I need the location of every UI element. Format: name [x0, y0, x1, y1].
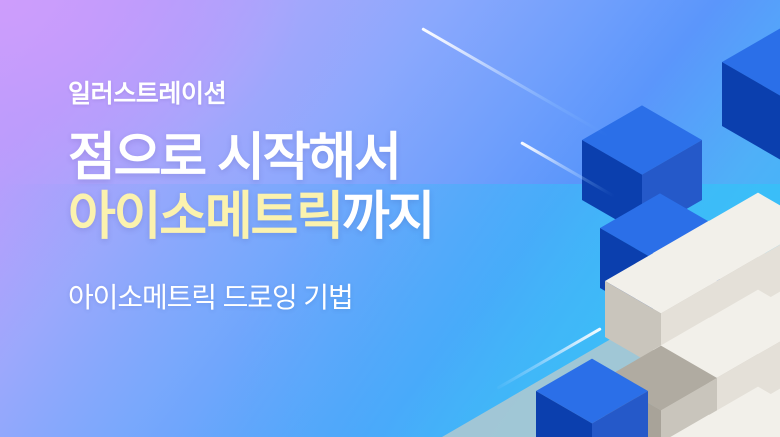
headline-line-2: 아이소메트릭까지 [68, 188, 588, 247]
banner-text-block: 일러스트레이션 점으로 시작해서 아이소메트릭까지 아이소메트릭 드로잉 기법 [68, 82, 588, 312]
headline-line-2-rest: 까지 [342, 188, 433, 246]
isometric-illustration-banner: 일러스트레이션 점으로 시작해서 아이소메트릭까지 아이소메트릭 드로잉 기법 [0, 0, 780, 437]
banner-caption: 아이소메트릭 드로잉 기법 [68, 284, 588, 312]
headline-accent-text: 아이소메트릭 [68, 188, 342, 246]
banner-eyebrow-label: 일러스트레이션 [68, 82, 588, 107]
banner-headline: 점으로 시작해서 아이소메트릭까지 [68, 129, 588, 248]
headline-line-1: 점으로 시작해서 [68, 129, 588, 188]
